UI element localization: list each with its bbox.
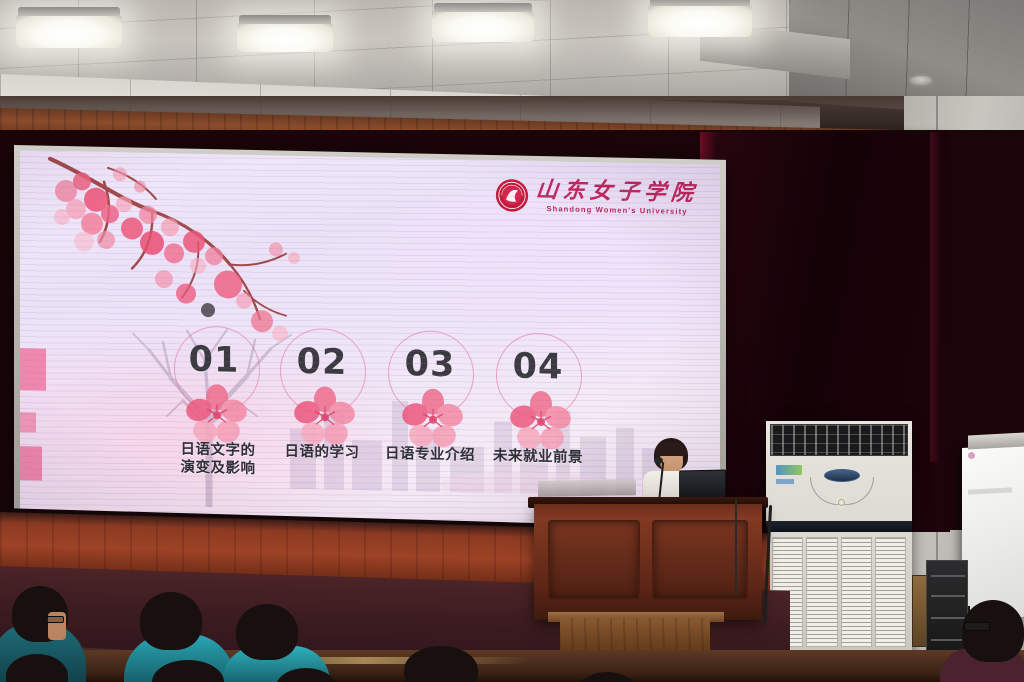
ac-divider	[766, 521, 912, 532]
audience-head	[404, 646, 478, 682]
logo-text-block: 山东女子学院 Shandong Women's University	[536, 179, 698, 216]
foreground-person-head	[962, 600, 1024, 662]
ceiling-light-icon	[648, 4, 752, 37]
curtain-right-strip	[930, 132, 942, 462]
presenter-bangs	[655, 442, 687, 456]
eyeglasses-icon	[964, 622, 990, 631]
ac-logo-icon	[824, 469, 860, 482]
whiteboard-marks	[968, 487, 1012, 494]
item-label: 未来就业前景	[474, 448, 602, 468]
institution-name-en: Shandong Women's University	[546, 204, 687, 216]
projection-screen-frame: 山东女子学院 Shandong Women's University 01	[14, 145, 726, 535]
university-logo: 山东女子学院 Shandong Women's University	[495, 178, 698, 216]
audience-head	[140, 592, 202, 650]
ac-brand-badge	[776, 465, 802, 475]
audience	[0, 560, 1024, 682]
agenda-item: 03	[376, 330, 484, 332]
ac-top-grille	[770, 424, 908, 456]
cherry-blossom-icon	[186, 384, 248, 447]
item-number: 01	[160, 339, 268, 381]
slide-edge-artifact	[20, 446, 42, 480]
ceiling-light-icon	[237, 22, 333, 52]
recessed-light-icon	[910, 76, 932, 85]
ac-label	[776, 479, 794, 484]
item-number: 04	[484, 346, 592, 388]
whiteboard-top-rail	[968, 433, 1024, 450]
institution-name-cn: 山东女子学院	[535, 179, 699, 204]
laptop-screen	[679, 470, 726, 501]
slide-edge-artifact	[20, 348, 46, 391]
audience-head	[236, 604, 298, 660]
audience-head	[578, 672, 636, 682]
cherry-blossom-icon	[294, 386, 356, 449]
agenda-item: 04	[484, 332, 592, 334]
slide-agenda-items: 01	[160, 325, 680, 486]
podium-papers	[538, 479, 636, 497]
presentation-slide: 山东女子学院 Shandong Women's University 01	[20, 150, 720, 528]
lecture-hall-photo: 山东女子学院 Shandong Women's University 01	[0, 0, 1024, 682]
university-seal-icon	[495, 178, 529, 213]
eyeglasses-icon	[44, 616, 64, 623]
ceiling-light-icon	[432, 10, 534, 42]
microphone-icon	[654, 457, 663, 464]
slide-edge-artifact	[20, 412, 36, 432]
agenda-item: 02	[268, 327, 376, 329]
cherry-blossom-icon	[402, 388, 464, 451]
whiteboard-magnet-icon	[968, 452, 975, 459]
cherry-blossom-icon	[510, 390, 572, 453]
ceiling-light-icon	[16, 14, 122, 48]
ac-indicator-light	[838, 499, 845, 506]
item-number: 03	[376, 344, 484, 386]
item-number: 02	[268, 341, 376, 383]
